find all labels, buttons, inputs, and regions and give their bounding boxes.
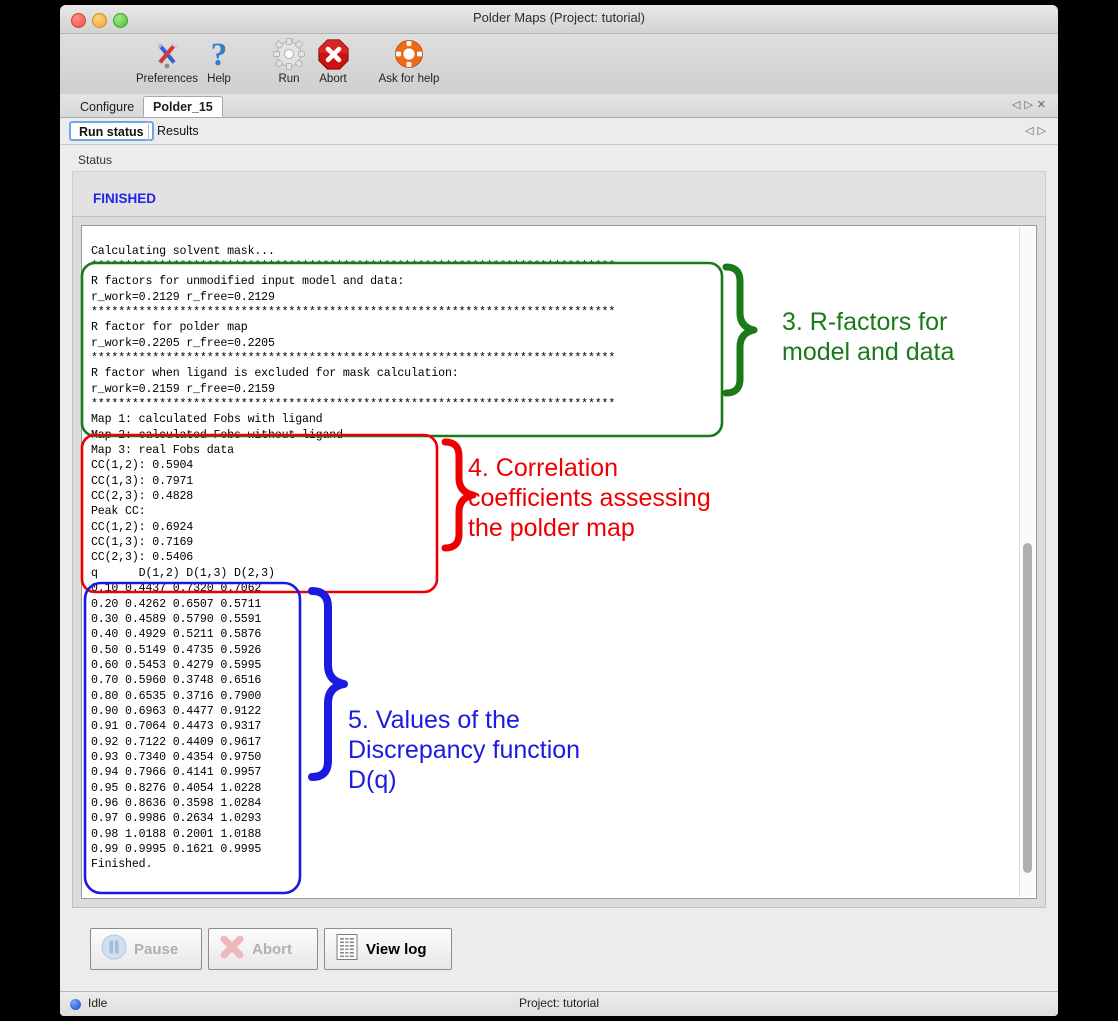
annotation-discrepancy-line2: Discrepancy function (348, 735, 668, 765)
window-title: Polder Maps (Project: tutorial) (60, 10, 1058, 25)
primary-tab-next-icon[interactable]: ▷ (1024, 99, 1036, 111)
secondary-tab-next-icon[interactable]: ▷ (1038, 125, 1050, 137)
help-question-icon: ? (182, 36, 256, 72)
project-label: Project: tutorial (60, 996, 1058, 1010)
toolbar-abort-button[interactable]: Abort (296, 36, 370, 85)
tab-results[interactable]: Results (148, 121, 207, 141)
log-scrollbar-thumb[interactable] (1023, 543, 1032, 873)
annotation-r-factors-line1: 3. R-factors for (782, 307, 1032, 337)
toolbar-ask-for-help-button[interactable]: Ask for help (360, 36, 458, 85)
annotation-correlation-line2: coefficients assessing (468, 483, 808, 513)
secondary-tab-bar: Run status Results ◁▷ (60, 118, 1058, 145)
secondary-tab-nav: ◁▷ (1025, 124, 1050, 137)
primary-tab-prev-icon[interactable]: ◁ (1012, 99, 1024, 111)
application-window: Polder Maps (Project: tutorial) Prefere (60, 5, 1058, 1016)
abort-stop-icon (296, 36, 370, 72)
annotation-label-correlation: 4. Correlation coefficients assessing th… (468, 453, 808, 543)
life-ring-icon (360, 36, 458, 72)
tab-polder-15[interactable]: Polder_15 (143, 96, 223, 117)
annotation-label-discrepancy: 5. Values of the Discrepancy function D(… (348, 705, 668, 795)
tab-configure[interactable]: Configure (70, 96, 144, 117)
annotation-discrepancy-line3: D(q) (348, 765, 668, 795)
annotation-correlation-line3: the polder map (468, 513, 808, 543)
toolbar-help-label: Help (182, 73, 256, 85)
abort-button-label: Abort (252, 941, 292, 958)
pause-button[interactable]: Pause (90, 928, 202, 970)
abort-x-icon (219, 934, 245, 964)
action-button-bar: Pause Abort (72, 916, 1046, 984)
annotation-discrepancy-line1: 5. Values of the (348, 705, 668, 735)
toolbar-abort-label: Abort (296, 73, 370, 85)
toolbar-help-button[interactable]: ? Help (182, 36, 256, 85)
toolbar-ask-for-help-label: Ask for help (360, 73, 458, 85)
annotation-r-factors-line2: model and data (782, 337, 1032, 367)
primary-tab-close-icon[interactable]: ✕ (1037, 99, 1050, 111)
status-badge: FINISHED (93, 191, 156, 206)
primary-tab-bar: Configure Polder_15 ◁▷✕ (60, 94, 1058, 118)
annotation-label-r-factors: 3. R-factors for model and data (782, 307, 1032, 367)
secondary-tab-prev-icon[interactable]: ◁ (1025, 125, 1037, 137)
view-log-button[interactable]: View log (324, 928, 452, 970)
annotation-correlation-line1: 4. Correlation (468, 453, 808, 483)
view-log-button-label: View log (366, 941, 427, 958)
pause-button-label: Pause (134, 941, 178, 958)
svg-text:?: ? (211, 37, 228, 71)
pause-icon (101, 934, 127, 964)
log-document-icon (335, 933, 359, 965)
abort-button[interactable]: Abort (208, 928, 318, 970)
main-toolbar: Preferences ? Help (60, 34, 1058, 96)
status-bar: Idle Project: tutorial (60, 991, 1058, 1016)
status-section-label: Status (78, 153, 1058, 167)
tab-run-status[interactable]: Run status (69, 121, 154, 141)
main-panel: Configure Polder_15 ◁▷✕ Run status Resul… (60, 94, 1058, 992)
primary-tab-nav: ◁▷✕ (1012, 98, 1050, 111)
window-titlebar: Polder Maps (Project: tutorial) (60, 5, 1058, 34)
